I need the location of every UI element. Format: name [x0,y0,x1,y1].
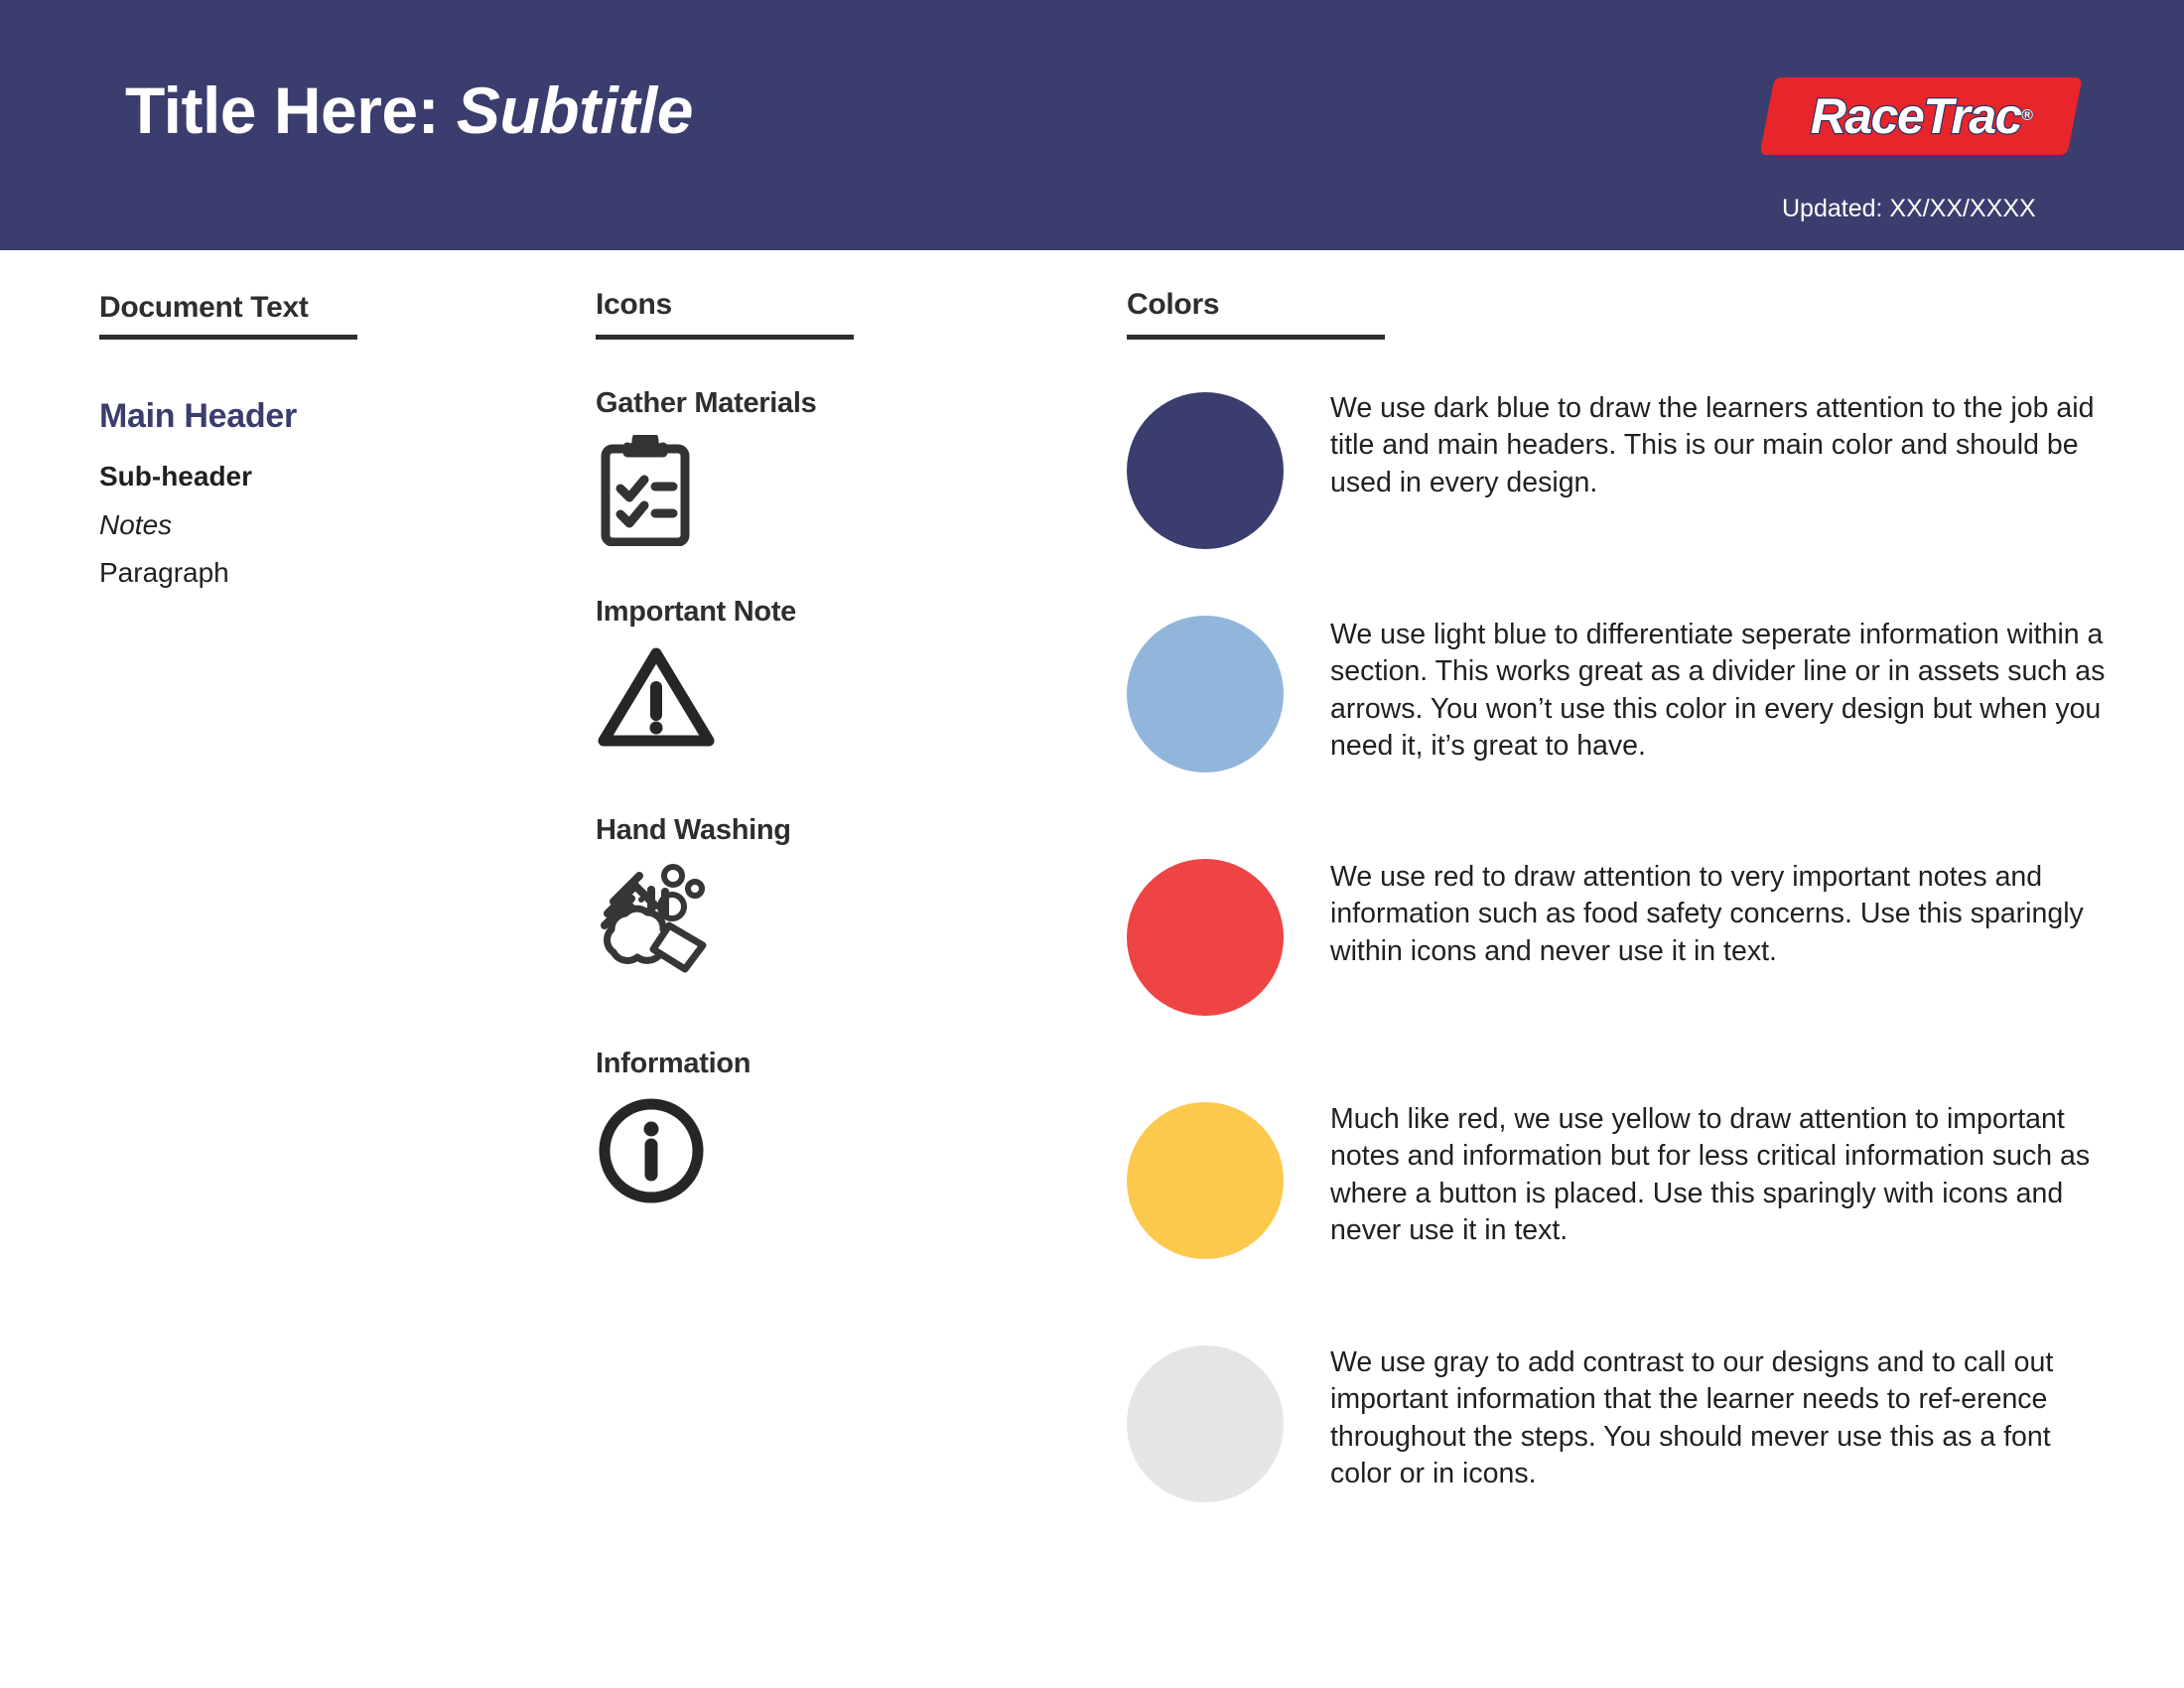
sample-notes: Notes [99,509,172,541]
color-swatch-yellow [1127,1102,1284,1259]
logo-wordmark-text: RaceTrac [1811,87,2021,145]
color-swatch-gray [1127,1345,1284,1502]
hand-washing-icon [596,862,717,978]
column-heading-colors: Colors [1127,288,1219,322]
page-title-main: Title Here: [125,73,439,147]
header-band: Title Here: Subtitle RaceTrac® Updated: … [0,0,2184,250]
column-heading-document-text: Document Text [99,291,309,325]
column-rule-icons [596,335,854,340]
icon-label-gather-materials: Gather Materials [596,387,816,420]
color-description-gray: We use gray to add contrast to our desig… [1330,1344,2115,1492]
icon-label-information: Information [596,1048,751,1080]
warning-triangle-icon [596,643,717,756]
information-circle-icon [596,1095,707,1211]
color-description-red: We use red to draw attention to very imp… [1330,859,2115,970]
color-description-light-blue: We use light blue to differentiate seper… [1330,617,2115,765]
clipboard-checklist-icon [596,435,695,551]
column-heading-icons: Icons [596,288,672,322]
sample-main-header: Main Header [99,397,297,436]
column-rule-colors [1127,335,1385,340]
style-guide-page: Title Here: Subtitle RaceTrac® Updated: … [0,0,2184,1688]
registered-trademark-icon: ® [2021,107,2031,125]
color-swatch-red [1127,859,1284,1016]
page-title-subtitle: Subtitle [457,73,693,147]
column-rule-document-text [99,335,357,340]
icon-label-hand-washing: Hand Washing [596,814,791,847]
logo-wordmark: RaceTrac® [1767,77,2075,155]
color-description-yellow: Much like red, we use yellow to draw att… [1330,1101,2115,1249]
sample-paragraph: Paragraph [99,557,229,589]
color-swatch-dark-blue [1127,392,1284,549]
updated-date-label: Updated: XX/XX/XXXX [1782,195,2036,223]
icon-label-important-note: Important Note [596,596,796,629]
color-description-dark-blue: We use dark blue to draw the learners at… [1330,390,2115,501]
page-title: Title Here: Subtitle [125,77,693,143]
racetrac-logo: RaceTrac® [1767,77,2075,157]
sample-sub-header: Sub-header [99,461,252,492]
color-swatch-light-blue [1127,616,1284,773]
